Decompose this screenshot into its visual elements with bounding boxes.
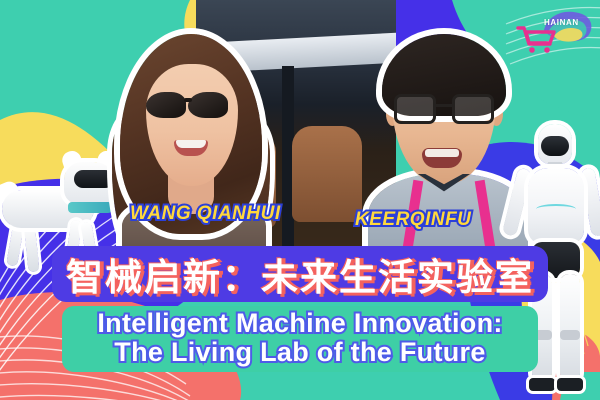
- eyeglasses-icon: [394, 94, 494, 124]
- eyeglasses-bridge: [436, 104, 452, 107]
- speaker-name-wang-qianhui-label: WANG QIANHUI: [130, 203, 281, 224]
- page-subtitle-en: Intelligent Machine Innovation: The Livi…: [62, 303, 538, 373]
- robot-foot-right: [557, 378, 583, 391]
- speaker-name-keerqinfu-label: KEERQINFU: [355, 209, 471, 230]
- sunglasses-lens-right: [188, 92, 228, 118]
- hainan-expo-logo[interactable]: HAINAN: [512, 6, 594, 60]
- speaker-name-wang-qianhui: WANG QIANHUI: [130, 203, 281, 225]
- robot-dog-leg: [23, 222, 39, 273]
- sunglasses-bridge: [184, 98, 192, 102]
- shopping-cart-icon: [516, 24, 556, 54]
- vehicle-seat: [292, 126, 362, 222]
- robot-visor: [541, 136, 569, 156]
- robot-dog-collar: [68, 202, 112, 213]
- man-mouth: [422, 148, 462, 168]
- robot-foot-left: [529, 378, 555, 391]
- poster-canvas: WANG QIANHUI KEERQINFU 智械启新：未来生活实验室 Inte…: [0, 0, 600, 400]
- robot-chest-accent: [536, 204, 576, 214]
- robot-knee-right: [560, 330, 580, 340]
- eyeglasses-lens-right: [452, 94, 494, 124]
- speaker-name-keerqinfu: KEERQINFU: [355, 209, 471, 231]
- logo-brand-text: HAINAN: [544, 18, 579, 27]
- sunglasses-lens-left: [146, 92, 186, 118]
- eyeglasses-lens-left: [394, 94, 436, 124]
- subtitle-line-1: Intelligent Machine Innovation:: [97, 309, 502, 338]
- speaker-man-photo: [366, 32, 530, 282]
- speaker-woman-photo: [108, 30, 278, 260]
- page-title-cn: 智械启新：未来生活实验室: [52, 246, 548, 302]
- subtitle-line-2: The Living Lab of the Future: [114, 338, 485, 367]
- robot-leg-right: [560, 274, 580, 382]
